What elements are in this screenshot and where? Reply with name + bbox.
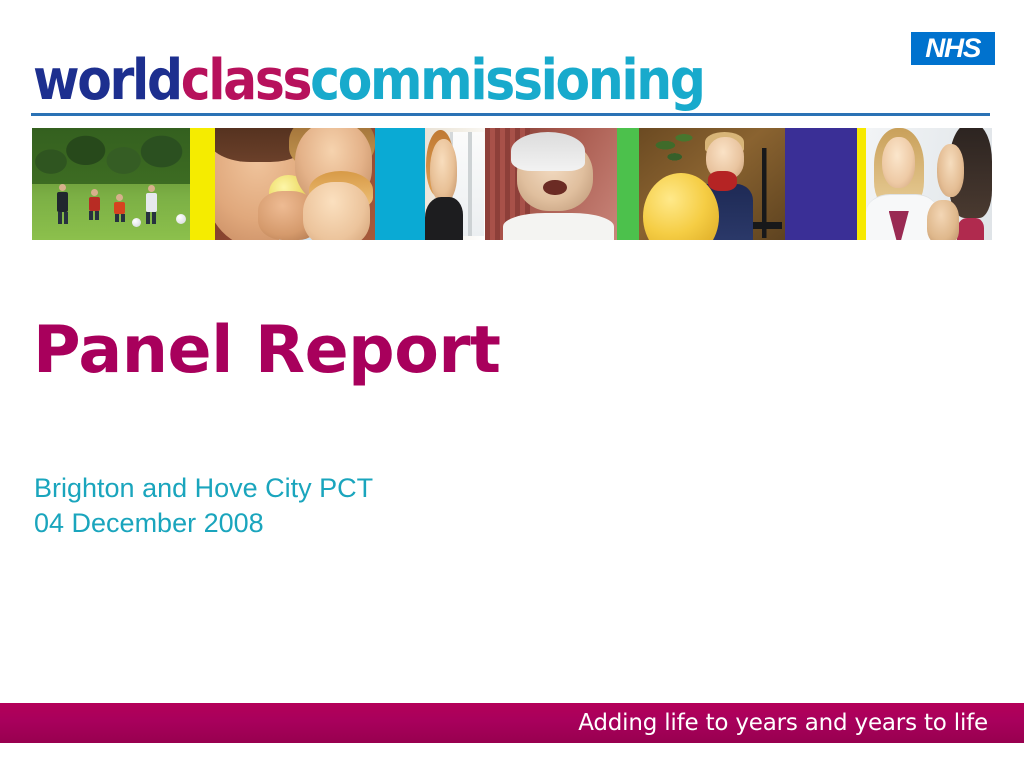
yellow-panel-thin	[857, 128, 866, 240]
child-face	[303, 182, 370, 240]
wheelchair-frame	[750, 148, 782, 238]
figure-child-one	[89, 189, 100, 220]
football-icon	[132, 218, 141, 227]
subtitle-date: 04 December 2008	[34, 506, 373, 541]
photo-child-with-yellow-ball	[639, 128, 785, 240]
football-icon-secondary	[176, 214, 186, 224]
wordmark-part-commissioning: commissioning	[310, 48, 703, 113]
patient-sleeve	[957, 218, 985, 240]
elderly-man-shirt	[503, 213, 614, 240]
nhs-logo: NHS	[911, 32, 995, 65]
cyan-panel	[375, 128, 425, 240]
plant-backdrop	[648, 128, 706, 177]
photo-clinician-with-patient	[866, 128, 992, 240]
page-title: Panel Report	[33, 312, 500, 390]
subtitle-organisation: Brighton and Hove City PCT	[34, 471, 373, 506]
photo-family-playing-football	[32, 128, 190, 240]
nhs-logo-text: NHS	[925, 35, 980, 62]
clinician-face	[882, 137, 915, 189]
purple-panel	[785, 128, 857, 240]
world-class-commissioning-wordmark: worldclasscommissioning	[33, 52, 704, 110]
window-frame-bar	[468, 132, 472, 235]
elderly-man-laughing-mouth	[543, 180, 567, 196]
tree-line-backdrop	[32, 128, 190, 184]
photo-man-eating-apple-with-family	[215, 128, 375, 240]
patient-hand	[927, 200, 960, 240]
patient-face	[937, 144, 965, 198]
woman-face	[430, 139, 458, 202]
green-panel	[617, 128, 639, 240]
wordmark-part-class: class	[181, 48, 310, 113]
yellow-panel	[190, 128, 215, 240]
header-divider-rule	[31, 113, 990, 116]
footer-tagline: Adding life to years and years to life	[578, 703, 1024, 743]
slide-canvas: NHS worldclasscommissioning	[0, 0, 1024, 768]
woman-torso	[425, 197, 463, 240]
figure-child-two	[114, 194, 125, 222]
subtitle-block: Brighton and Hove City PCT 04 December 2…	[34, 471, 373, 541]
child-red-top	[708, 171, 737, 191]
elderly-man-white-hair	[511, 132, 585, 170]
footer-bar: Adding life to years and years to life	[0, 703, 1024, 743]
wordmark-part-world: world	[33, 48, 181, 113]
figure-adult-left	[57, 184, 68, 224]
header-image-strip	[32, 128, 992, 240]
photo-elderly-man-laughing	[485, 128, 617, 240]
photo-woman-by-window	[425, 128, 485, 240]
figure-adult-right	[146, 185, 157, 224]
